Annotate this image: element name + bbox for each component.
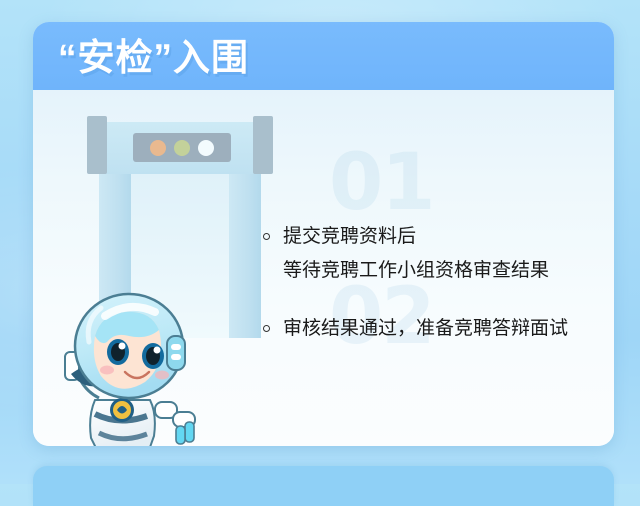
list-item-line: 提交竞聘资料后 — [283, 220, 601, 254]
robot-astronaut-mascot — [43, 290, 218, 446]
card-body: 01 02 — [33, 90, 614, 446]
watermark-number-01: 01 — [329, 138, 434, 228]
list-item-line: 审核结果通过，准备竞聘答辩面试 — [283, 312, 601, 346]
list-item: 审核结果通过，准备竞聘答辩面试 — [261, 312, 601, 346]
indicator-light-white-icon — [198, 140, 214, 156]
gate-right-cap — [253, 116, 273, 174]
bullet-list: 提交竞聘资料后 等待竞聘工作小组资格审查结果 审核结果通过，准备竞聘答辩面试 — [261, 220, 601, 370]
indicator-light-orange-icon — [150, 140, 166, 156]
gate-indicator-panel — [133, 133, 231, 162]
indicator-light-green-icon — [174, 140, 190, 156]
content-card: “安检”入围 01 02 — [33, 22, 614, 446]
list-item: 提交竞聘资料后 等待竞聘工作小组资格审查结果 — [261, 220, 601, 288]
page-title: “安检”入围 — [58, 37, 249, 79]
gate-left-cap — [87, 116, 107, 174]
list-item-line: 等待竞聘工作小组资格审查结果 — [283, 254, 601, 288]
card-header: “安检”入围 — [33, 22, 614, 90]
next-card-peek[interactable] — [33, 466, 614, 506]
